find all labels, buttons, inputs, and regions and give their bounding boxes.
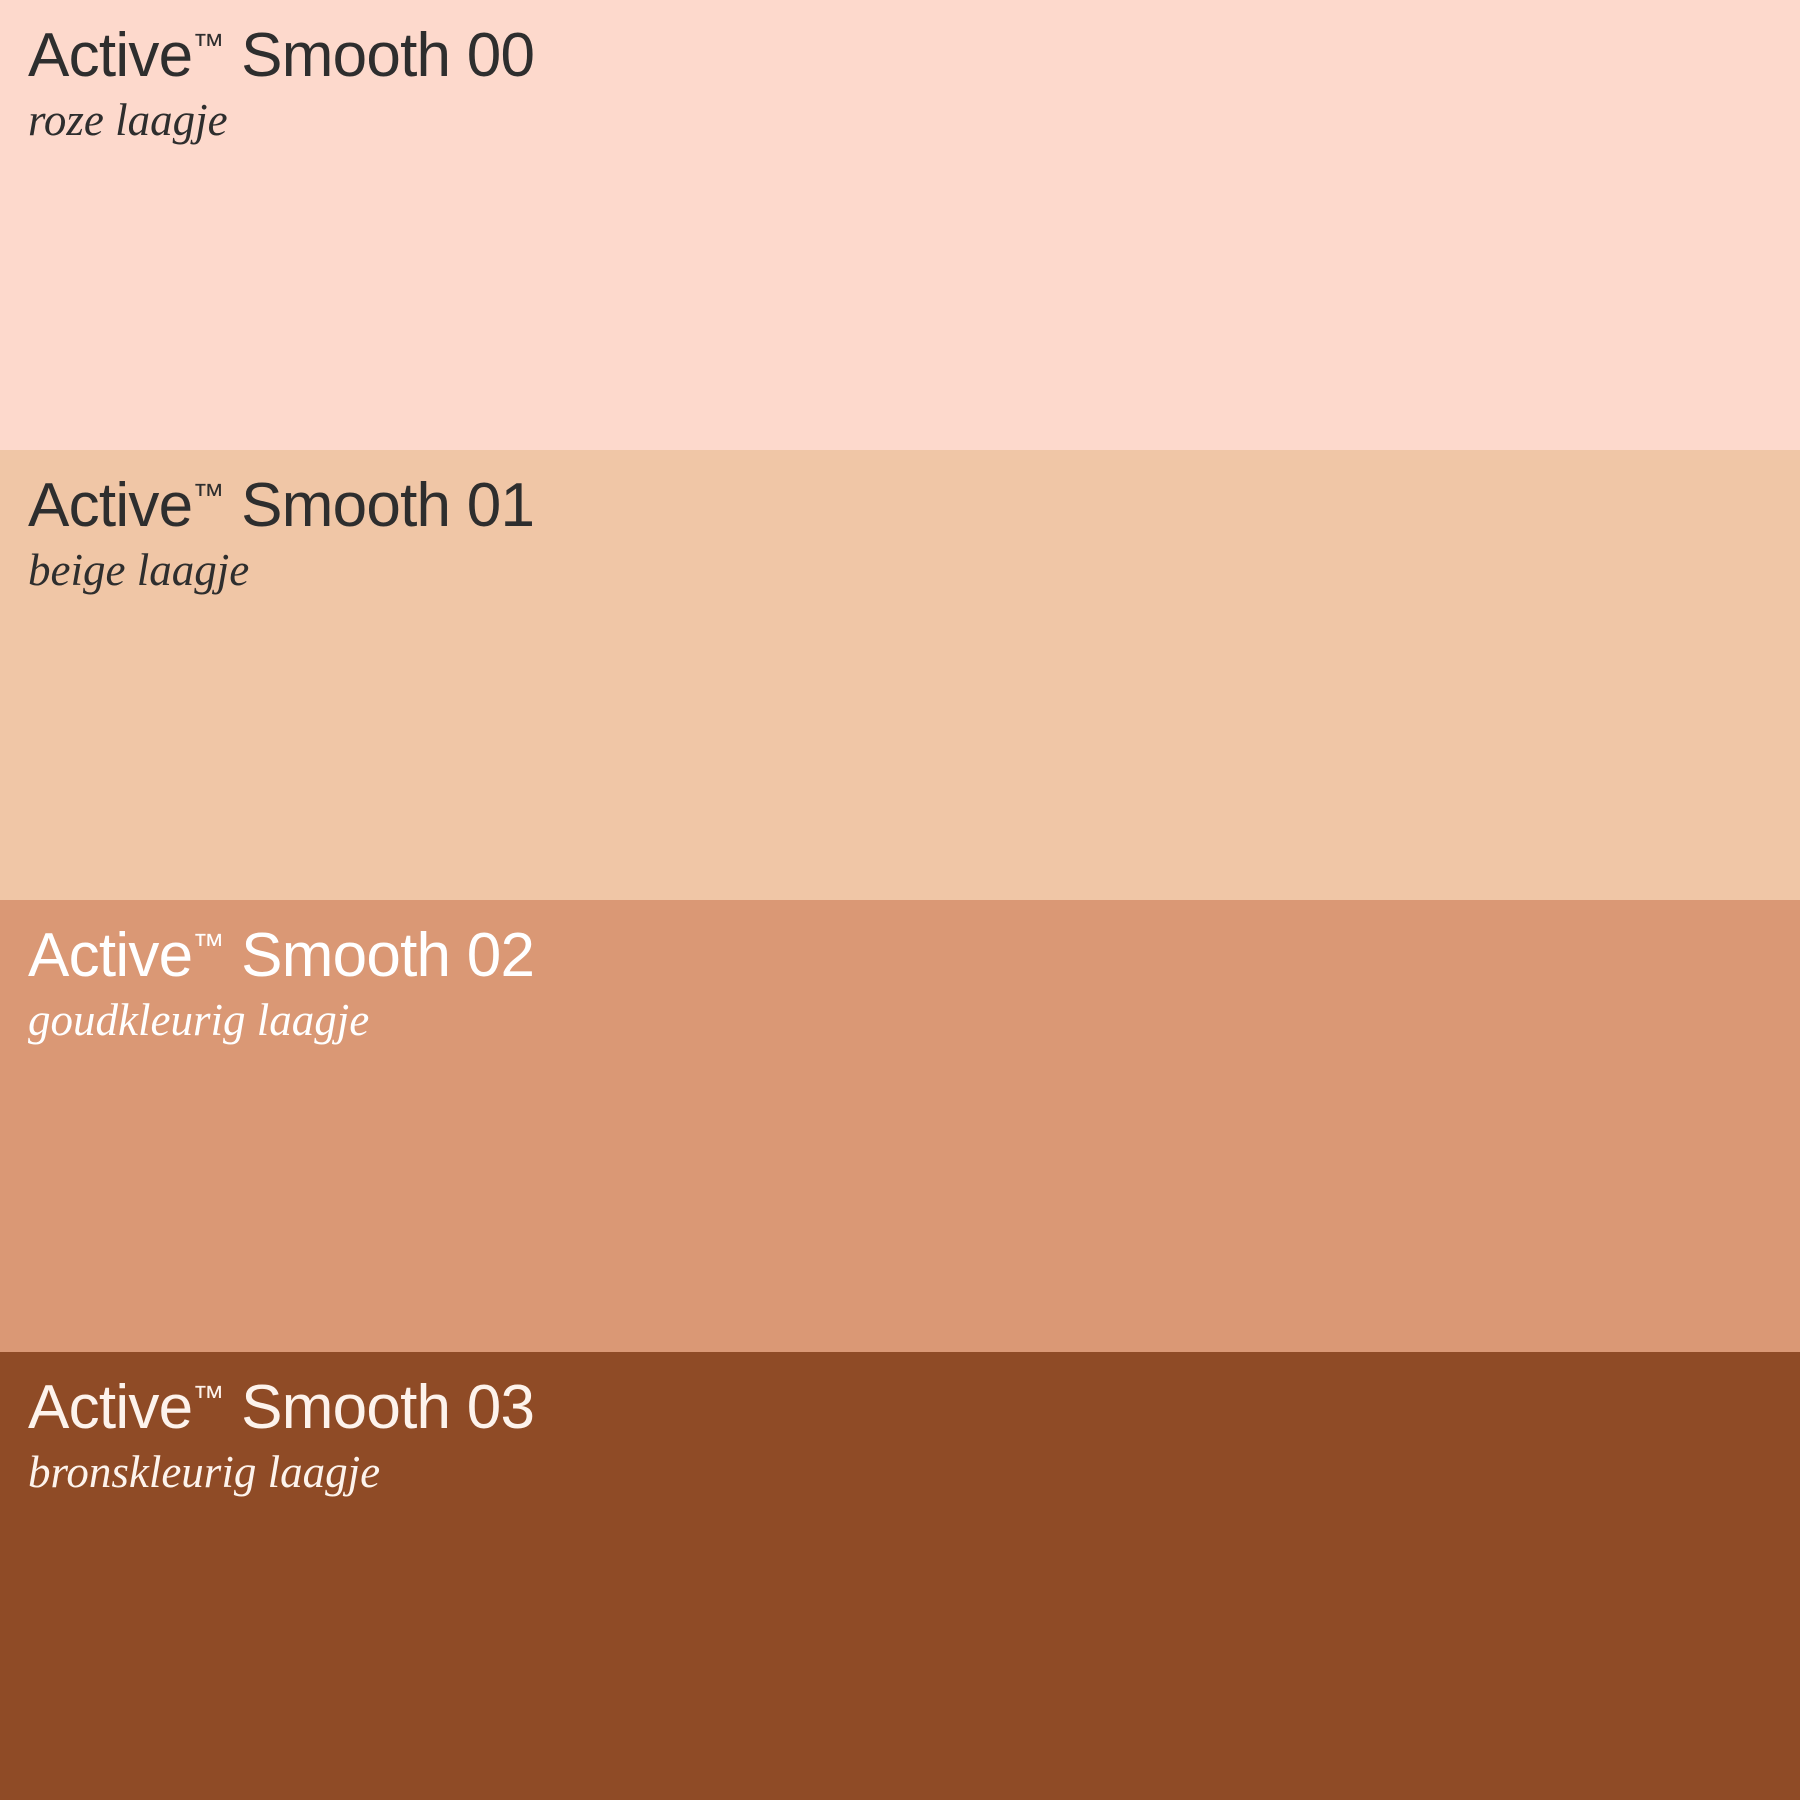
shade-band-02-text: Active™ Smooth 02 goudkleurig laagje — [28, 900, 1800, 1047]
shade-band-02-subtitle: goudkleurig laagje — [28, 994, 1800, 1046]
shade-band-02-title-base: Active — [28, 921, 192, 990]
shade-band-00-title-base: Active — [28, 21, 192, 90]
shade-band-03-title-base: Active — [28, 1373, 192, 1442]
shade-band-00[interactable]: Active™ Smooth 00 roze laagje — [0, 0, 1800, 450]
shade-band-03-title-rest: Smooth 03 — [225, 1373, 535, 1442]
shade-band-03-title: Active™ Smooth 03 — [28, 1376, 1800, 1440]
shade-band-01-title: Active™ Smooth 01 — [28, 474, 1800, 538]
shade-band-03[interactable]: Active™ Smooth 03 bronskleurig laagje — [0, 1352, 1800, 1800]
shade-band-01-text: Active™ Smooth 01 beige laagje — [28, 450, 1800, 597]
shade-swatch-stack: Active™ Smooth 00 roze laagje Active™ Sm… — [0, 0, 1800, 1800]
shade-band-02-title-rest: Smooth 02 — [225, 921, 535, 990]
shade-band-00-subtitle: roze laagje — [28, 94, 1800, 146]
trademark-icon: ™ — [192, 927, 224, 963]
shade-band-00-title-rest: Smooth 00 — [225, 21, 535, 90]
shade-band-01-subtitle: beige laagje — [28, 544, 1800, 596]
trademark-icon: ™ — [192, 477, 224, 513]
shade-band-03-text: Active™ Smooth 03 bronskleurig laagje — [28, 1352, 1800, 1499]
shade-band-00-text: Active™ Smooth 00 roze laagje — [28, 0, 1800, 147]
trademark-icon: ™ — [192, 27, 224, 63]
trademark-icon: ™ — [192, 1379, 224, 1415]
shade-band-01[interactable]: Active™ Smooth 01 beige laagje — [0, 450, 1800, 900]
shade-band-01-title-rest: Smooth 01 — [225, 471, 535, 540]
shade-band-01-title-base: Active — [28, 471, 192, 540]
shade-band-00-title: Active™ Smooth 00 — [28, 24, 1800, 88]
shade-band-02-title: Active™ Smooth 02 — [28, 924, 1800, 988]
shade-band-02[interactable]: Active™ Smooth 02 goudkleurig laagje — [0, 900, 1800, 1352]
shade-band-03-subtitle: bronskleurig laagje — [28, 1446, 1800, 1498]
